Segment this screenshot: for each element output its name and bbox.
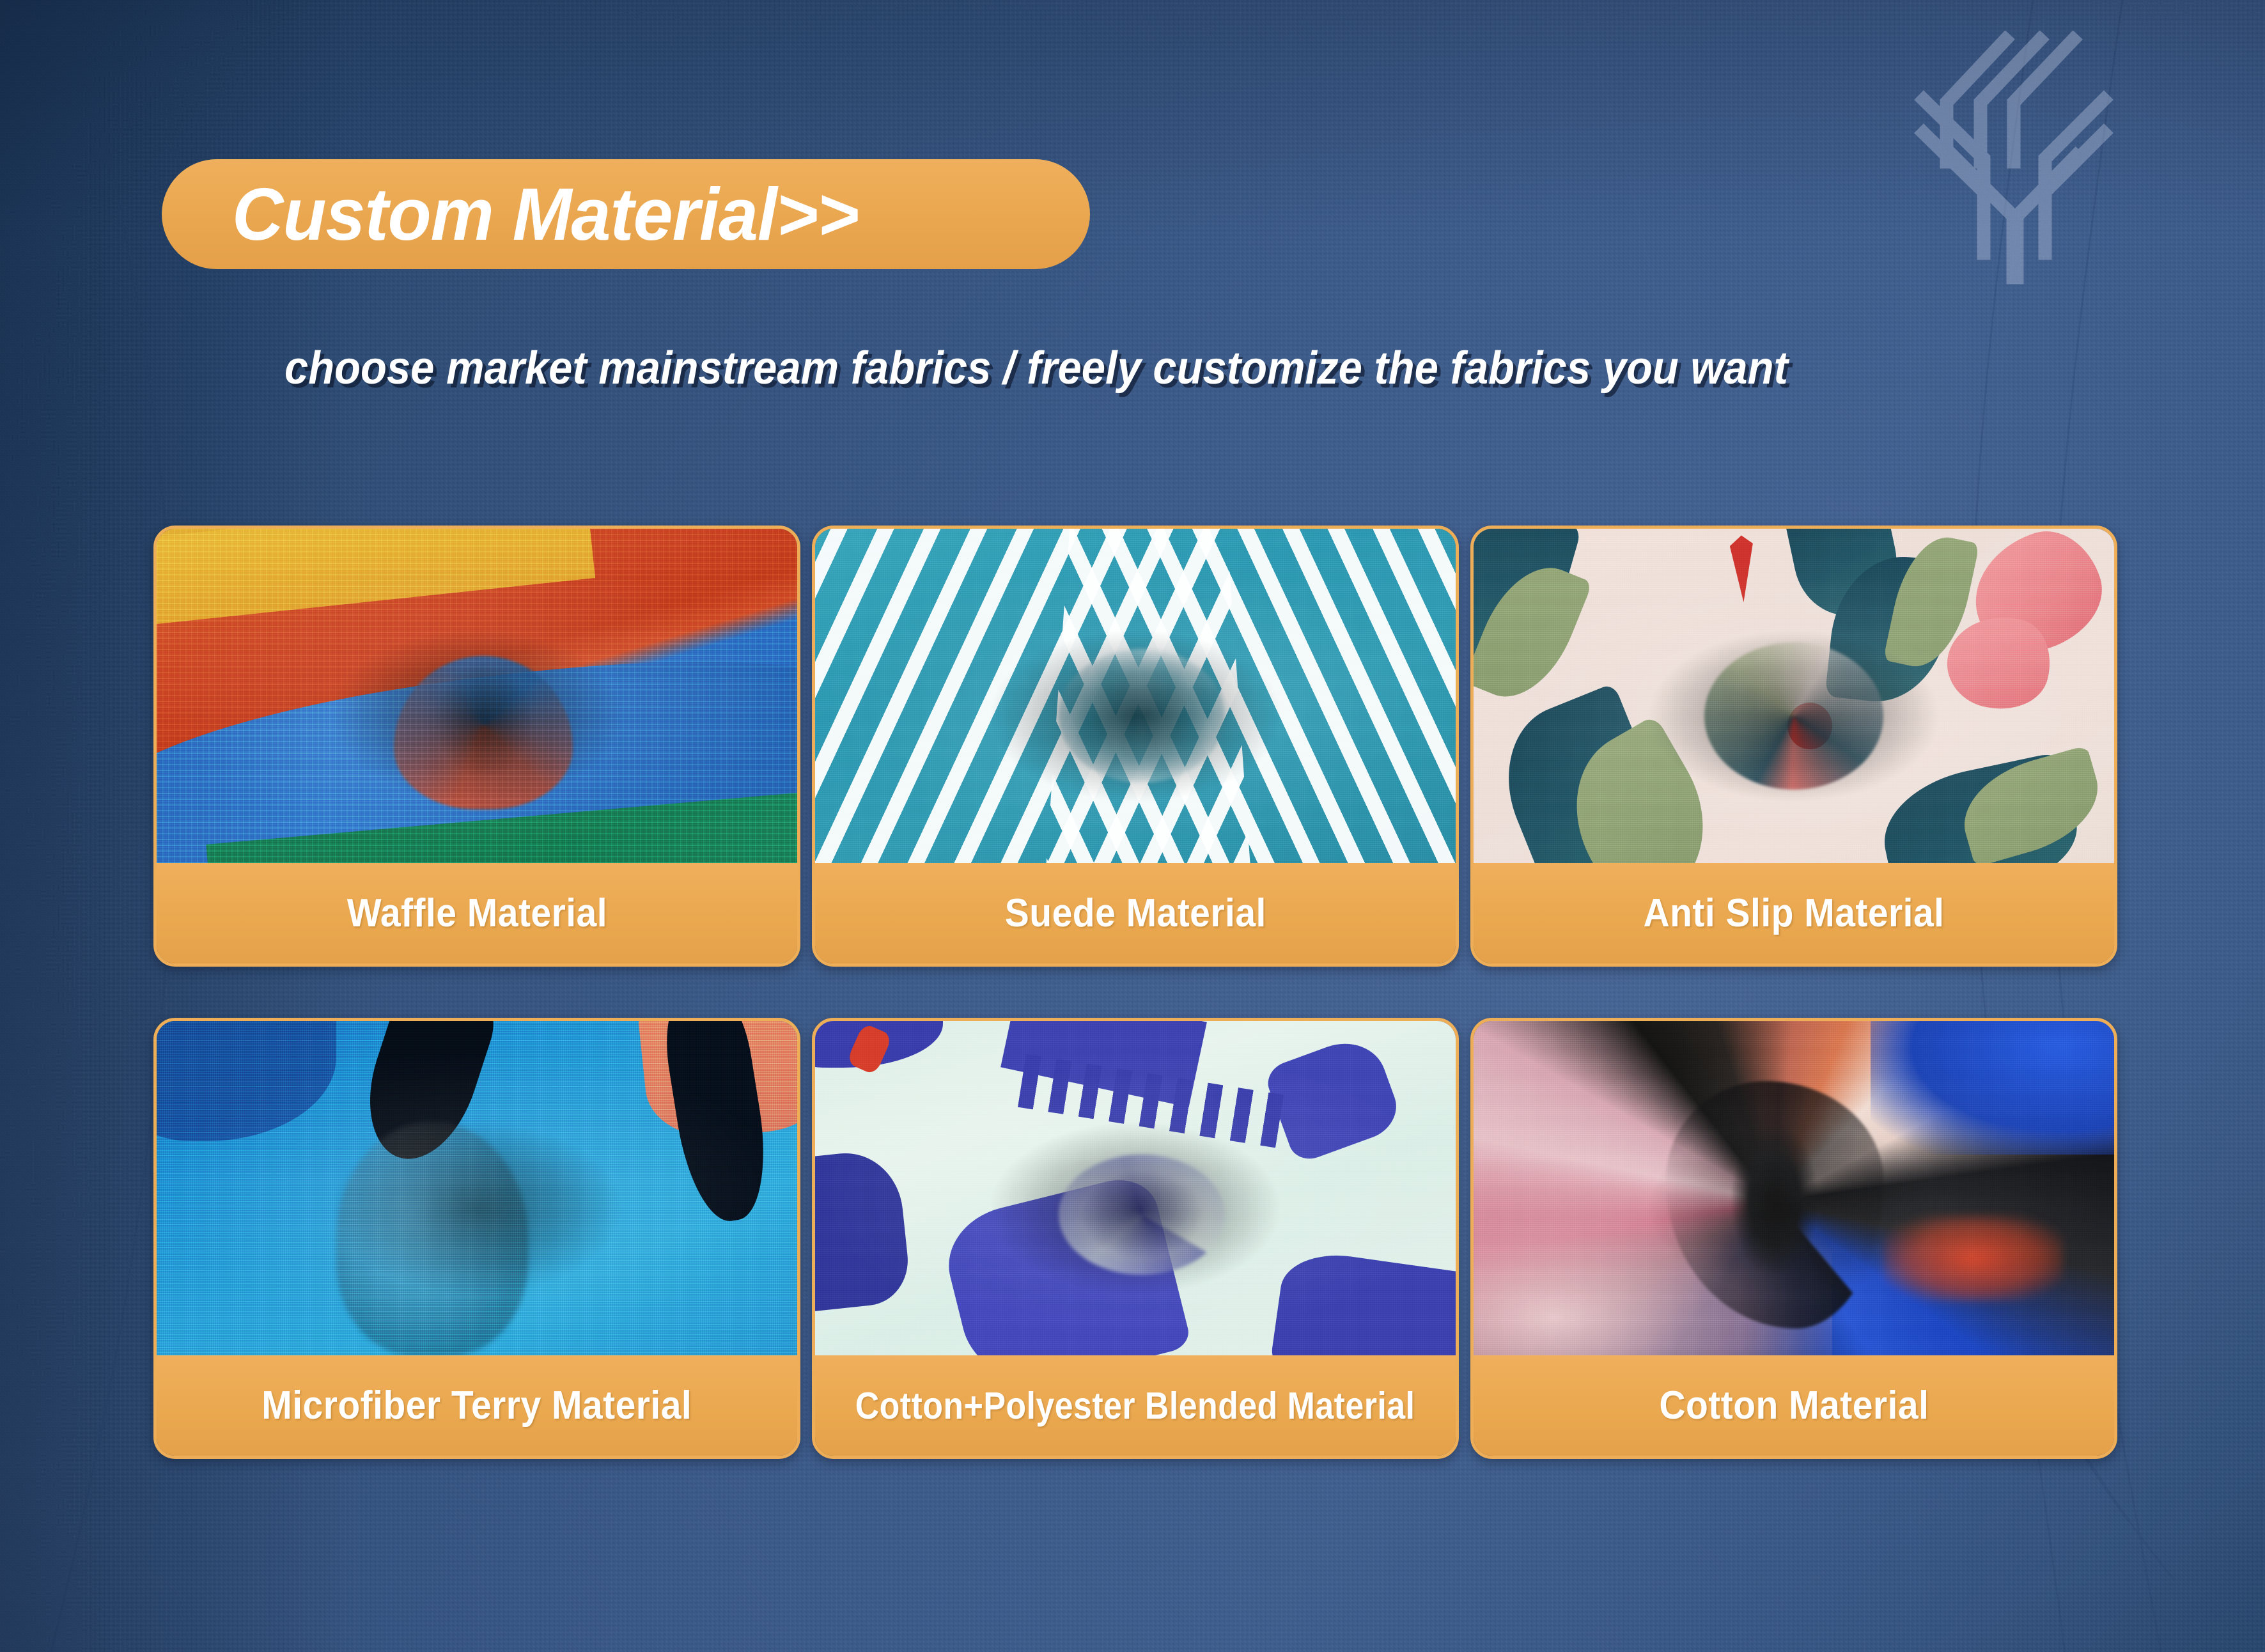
material-card-microfiber-terry[interactable]: Microfiber Terry Material: [153, 1018, 800, 1459]
page-subtitle: choose market mainstream fabrics / freel…: [284, 342, 1788, 394]
material-card-grid: Waffle Material Suede Material: [153, 526, 2117, 1459]
material-card-cotton[interactable]: Cotton Material: [1470, 1018, 2117, 1459]
material-card-suede[interactable]: Suede Material: [812, 526, 1459, 967]
cotton-polyester-blended-fabric-swatch: [815, 1021, 1456, 1355]
page-title: Custom Material>>: [232, 177, 859, 251]
waffle-fabric-swatch: [157, 529, 797, 863]
material-card-anti-slip[interactable]: Anti Slip Material: [1470, 526, 2117, 967]
material-label-bar: Microfiber Terry Material: [157, 1355, 797, 1456]
material-label: Microfiber Terry Material: [262, 1383, 692, 1428]
material-label: Cotton+Polyester Blended Material: [855, 1384, 1415, 1428]
material-card-waffle[interactable]: Waffle Material: [153, 526, 800, 967]
material-label-bar: Cotton Material: [1474, 1355, 2114, 1456]
microfiber-terry-fabric-swatch: [157, 1021, 797, 1355]
anti-slip-fabric-swatch: [1474, 529, 2114, 863]
material-label-bar: Suede Material: [815, 863, 1456, 963]
material-label: Waffle Material: [346, 891, 607, 936]
title-banner: Custom Material>>: [162, 159, 1090, 269]
brand-logo-icon: [1908, 31, 2119, 286]
material-label: Suede Material: [1004, 891, 1266, 936]
material-card-cotton-polyester[interactable]: Cotton+Polyester Blended Material: [812, 1018, 1459, 1459]
material-label: Cotton Material: [1659, 1383, 1929, 1428]
material-label-bar: Waffle Material: [157, 863, 797, 963]
material-label-bar: Cotton+Polyester Blended Material: [815, 1355, 1456, 1456]
suede-fabric-swatch: [815, 529, 1456, 863]
material-label: Anti Slip Material: [1643, 891, 1944, 936]
cotton-fabric-swatch: [1474, 1021, 2114, 1355]
material-label-bar: Anti Slip Material: [1474, 863, 2114, 963]
